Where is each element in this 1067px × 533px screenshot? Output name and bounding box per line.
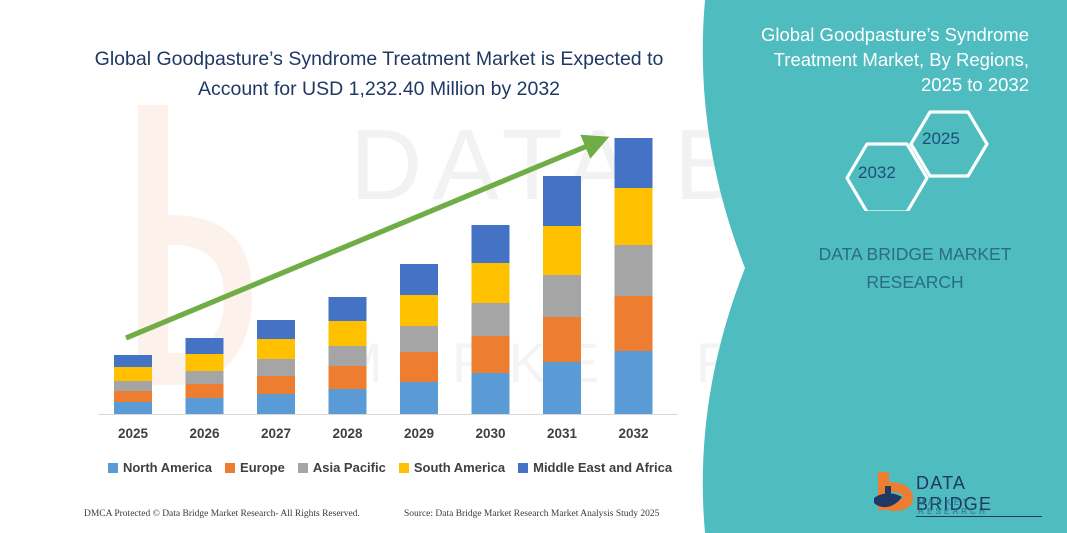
bar-2027[interactable] [257, 320, 295, 414]
bar-2028[interactable] [329, 297, 367, 414]
bar-segment[interactable] [615, 138, 653, 188]
legend-label: North America [123, 460, 212, 475]
bar-segment[interactable] [615, 245, 653, 296]
panel-title: Global Goodpasture’s Syndrome Treatment … [737, 22, 1029, 97]
x-axis-label-2025: 2025 [98, 426, 168, 441]
bar-segment[interactable] [615, 351, 653, 414]
bar-segment[interactable] [257, 320, 295, 339]
bar-segment[interactable] [400, 264, 438, 294]
bar-segment[interactable] [114, 381, 152, 391]
bar-segment[interactable] [543, 317, 581, 362]
hex-label-2032: 2032 [858, 163, 896, 183]
bar-2030[interactable] [472, 225, 510, 414]
hex-badge-group-icon [825, 106, 1005, 211]
bar-2026[interactable] [186, 338, 224, 414]
bar-segment[interactable] [472, 225, 510, 263]
bar-segment[interactable] [257, 394, 295, 414]
bar-2031[interactable] [543, 176, 581, 414]
infographic-canvas: DATA BRIDGE MARKET RESEARCH Global Goodp… [0, 0, 1067, 533]
data-bridge-logo: DATA BRIDGE MARKET RESEARCH [872, 470, 1042, 518]
year-hex-badges: 2025 2032 [825, 106, 1005, 211]
bar-segment[interactable] [186, 338, 224, 354]
footer-copyright: DMCA Protected © Data Bridge Market Rese… [84, 509, 360, 519]
stacked-bar-chart: 20252026202720282029203020312032 [0, 0, 700, 460]
bar-segment[interactable] [329, 346, 367, 366]
x-axis-label-2031: 2031 [527, 426, 597, 441]
legend-item-asia-pacific[interactable]: Asia Pacific [298, 460, 386, 475]
hex-label-2025: 2025 [922, 129, 960, 149]
legend-label: Europe [240, 460, 285, 475]
footer-source: Source: Data Bridge Market Research Mark… [404, 509, 659, 519]
panel-brand-text: DATA BRIDGE MARKET RESEARCH [770, 240, 1060, 296]
bar-segment[interactable] [186, 371, 224, 384]
x-axis-label-2027: 2027 [241, 426, 311, 441]
legend-label: Middle East and Africa [533, 460, 672, 475]
bar-segment[interactable] [543, 176, 581, 226]
legend-swatch-icon [518, 463, 528, 473]
chart-legend: North AmericaEuropeAsia PacificSouth Ame… [100, 460, 680, 475]
bar-segment[interactable] [543, 226, 581, 276]
logo-subtitle: MARKET RESEARCH [918, 498, 1042, 516]
bar-segment[interactable] [472, 336, 510, 372]
bar-2025[interactable] [114, 355, 152, 414]
legend-item-middle-east-and-africa[interactable]: Middle East and Africa [518, 460, 672, 475]
bar-segment[interactable] [257, 376, 295, 394]
bar-2029[interactable] [400, 264, 438, 414]
bar-segment[interactable] [543, 362, 581, 414]
x-axis-label-2030: 2030 [456, 426, 526, 441]
legend-item-europe[interactable]: Europe [225, 460, 285, 475]
bar-segment[interactable] [400, 295, 438, 326]
legend-swatch-icon [399, 463, 409, 473]
bar-segment[interactable] [329, 297, 367, 321]
bar-segment[interactable] [400, 326, 438, 352]
bar-segment[interactable] [257, 339, 295, 359]
legend-swatch-icon [108, 463, 118, 473]
bar-segment[interactable] [114, 391, 152, 402]
legend-label: Asia Pacific [313, 460, 386, 475]
bar-segment[interactable] [543, 275, 581, 316]
bar-segment[interactable] [472, 303, 510, 336]
bar-segment[interactable] [257, 359, 295, 375]
x-axis-label-2026: 2026 [170, 426, 240, 441]
bar-segment[interactable] [400, 352, 438, 381]
x-axis-label-2032: 2032 [599, 426, 669, 441]
bar-segment[interactable] [329, 321, 367, 346]
bar-segment[interactable] [472, 263, 510, 302]
bar-segment[interactable] [114, 367, 152, 380]
legend-swatch-icon [298, 463, 308, 473]
bar-segment[interactable] [186, 354, 224, 370]
bar-segment[interactable] [472, 373, 510, 414]
bar-segment[interactable] [329, 389, 367, 414]
legend-swatch-icon [225, 463, 235, 473]
bar-2032[interactable] [615, 138, 653, 414]
legend-item-north-america[interactable]: North America [108, 460, 212, 475]
bar-segment[interactable] [114, 355, 152, 367]
bar-segment[interactable] [186, 384, 224, 398]
bar-segment[interactable] [114, 402, 152, 414]
x-axis-line [98, 414, 678, 415]
bar-segment[interactable] [400, 382, 438, 414]
bar-segment[interactable] [615, 188, 653, 246]
x-axis-label-2028: 2028 [313, 426, 383, 441]
x-axis-label-2029: 2029 [384, 426, 454, 441]
bar-segment[interactable] [615, 296, 653, 352]
bar-segment[interactable] [329, 366, 367, 388]
legend-item-south-america[interactable]: South America [399, 460, 505, 475]
data-bridge-mark-icon [872, 470, 916, 516]
legend-label: South America [414, 460, 505, 475]
bar-segment[interactable] [186, 398, 224, 414]
